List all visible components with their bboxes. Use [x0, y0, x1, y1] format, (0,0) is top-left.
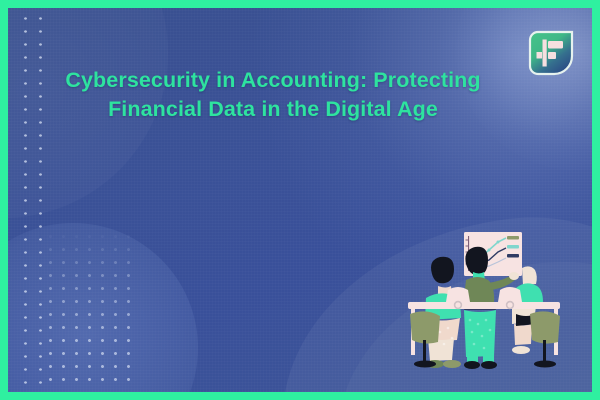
banner-title-line-2: Financial Data in the Digital Age [38, 95, 508, 124]
f-monogram-logo[interactable] [527, 29, 575, 77]
decor-dot-grid-pattern [44, 230, 130, 388]
frame-border-bottom [0, 392, 600, 400]
f-monogram-logo-icon [527, 29, 575, 77]
banner-title-line-1: Cybersecurity in Accounting: Protecting [38, 66, 508, 95]
business-meeting-illustration-icon [404, 228, 576, 376]
banner-canvas: Cybersecurity in Accounting: Protecting … [8, 8, 592, 392]
banner-title: Cybersecurity in Accounting: Protecting … [38, 66, 508, 124]
decor-blob-bottom-left [8, 223, 198, 392]
frame-border-right [592, 0, 600, 400]
frame-border-top [0, 0, 600, 8]
blog-banner: Cybersecurity in Accounting: Protecting … [0, 0, 600, 400]
frame-border-left [0, 0, 8, 400]
chair-right [530, 311, 560, 367]
business-meeting-illustration [404, 228, 576, 376]
